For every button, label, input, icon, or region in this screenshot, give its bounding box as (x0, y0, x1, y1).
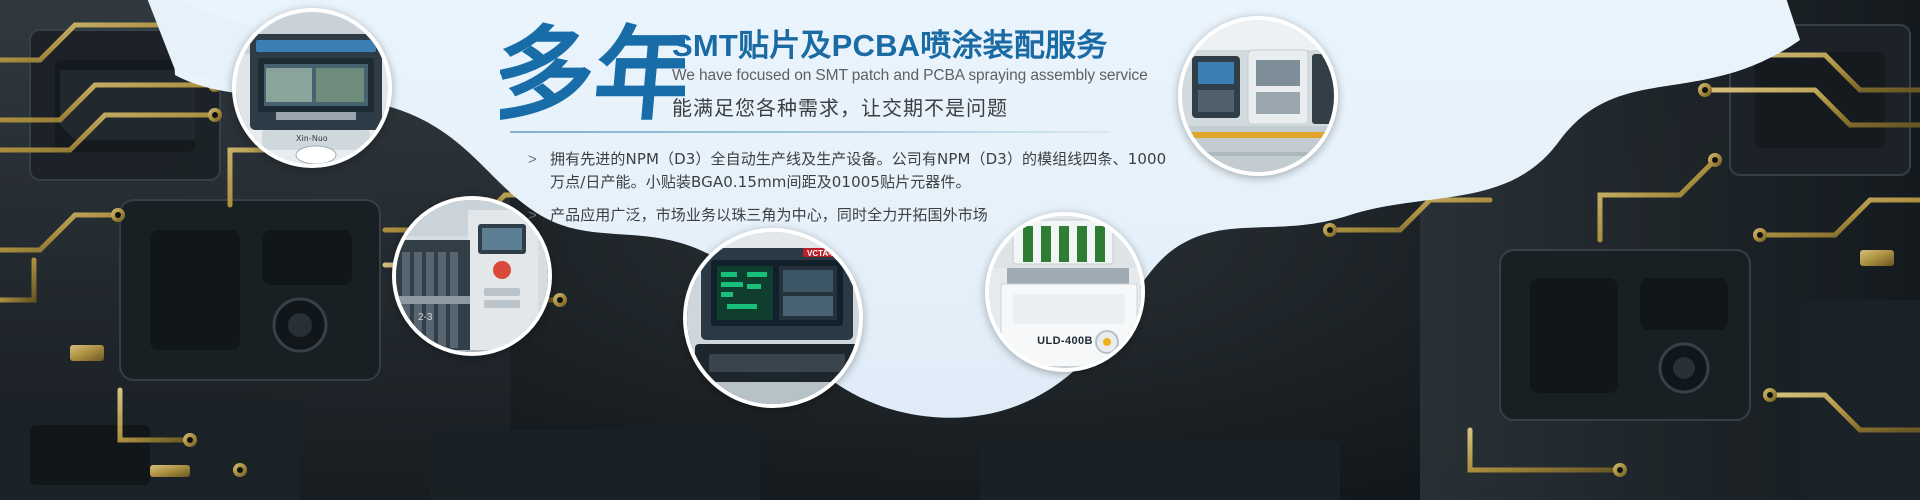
svg-text:2-3: 2-3 (418, 312, 433, 323)
list-item-label: 拥有先进的NPM（D3）全自动生产线及生产设备。公司有NPM（D3）的模组线四条… (550, 148, 1168, 194)
subtitle-english: We have focused on SMT patch and PCBA sp… (672, 67, 1192, 85)
aoi-illustration: VCTA-A410 (687, 232, 863, 408)
photo-caption: ULD-400B (989, 335, 1141, 347)
photo-inner: 2-3 (396, 200, 548, 352)
section-divider (510, 131, 1110, 133)
photo-inner: ULD-400B (989, 216, 1141, 368)
production-line-illustration (1182, 20, 1338, 176)
hero-char-text: 多年 (500, 16, 685, 135)
pick-place-illustration: 2-3 (396, 200, 552, 356)
headline-group: SMT贴片及PCBA喷涂装配服务 We have focused on SMT … (672, 28, 1192, 121)
photo-aoi-inspection-machine: VCTA-A410 VCTA-A410 (683, 228, 863, 408)
uld400b-illustration (989, 216, 1145, 372)
list-item-label: 产品应用广泛，市场业务以珠三角为中心，同时全力开拓国外市场 (550, 204, 988, 227)
photo-inner (1182, 20, 1334, 172)
photo-inner: VCTA-A410 VCTA-A410 (687, 232, 859, 404)
photo-smt-pick-and-place: 2-3 (392, 196, 552, 356)
photo-smt-production-line (1178, 16, 1338, 176)
subtitle-chinese: 能满足您各种需求，让交期不是问题 (672, 92, 1192, 121)
svg-text:VCTA-A410: VCTA-A410 (807, 249, 851, 258)
chevron-right-icon: > (528, 148, 550, 194)
banner-content: 多年 SMT贴片及PCBA喷涂装配服务 We have focused on S… (500, 8, 1200, 228)
photo-inner: Xin-Nuo (236, 12, 388, 164)
list-item: > 拥有先进的NPM（D3）全自动生产线及生产设备。公司有NPM（D3）的模组线… (528, 148, 1168, 194)
hero-char-svg: 多年 (500, 12, 685, 142)
photo-smt-reflow-oven: Xin-Nuo (232, 8, 392, 168)
photo-caption: Xin-Nuo (236, 134, 388, 143)
smt-service-banner: 多年 SMT贴片及PCBA喷涂装配服务 We have focused on S… (0, 0, 1920, 500)
photo-uld-400b-loader: ULD-400B (985, 212, 1145, 372)
reflow-oven-illustration (236, 12, 392, 168)
photo-caption: VCTA-A410 (687, 371, 859, 380)
hero-chinese-characters: 多年 (500, 12, 685, 142)
page-title: SMT贴片及PCBA喷涂装配服务 (672, 28, 1192, 64)
